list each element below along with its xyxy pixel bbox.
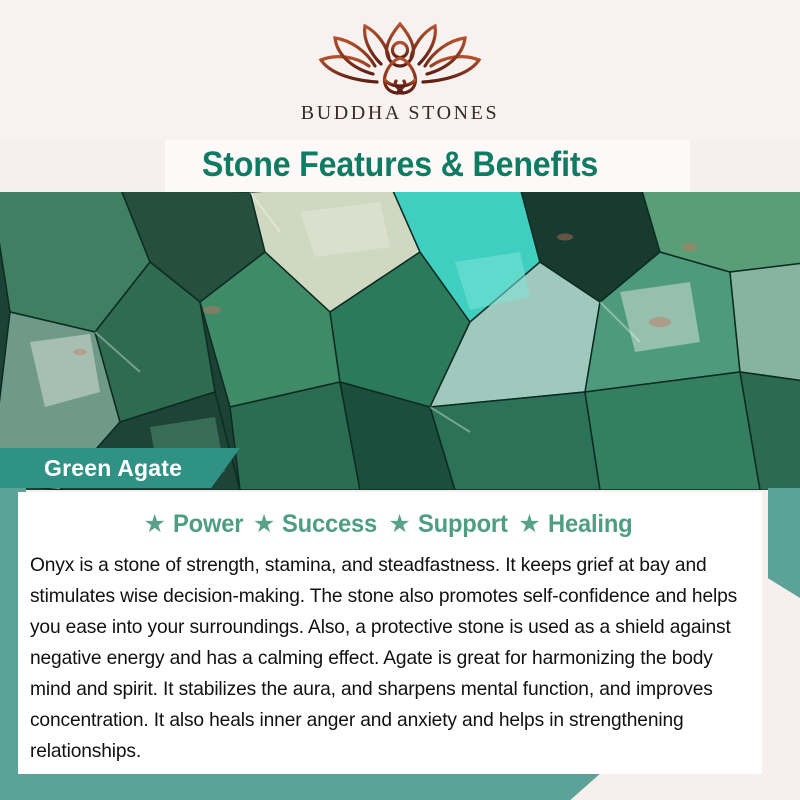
keyword-label: Power bbox=[173, 510, 243, 539]
brand-header: BUDDHA STONES bbox=[0, 0, 800, 140]
brand-name: BUDDHA STONES bbox=[301, 102, 499, 125]
title-band: Stone Features & Benefits bbox=[0, 140, 800, 196]
keyword-item-success: ★ Success bbox=[253, 510, 383, 539]
page-title: Stone Features & Benefits bbox=[32, 140, 768, 190]
keyword-item-support: ★ Support bbox=[388, 510, 512, 539]
stone-name-label: Green Agate bbox=[44, 455, 182, 482]
keyword-label: Success bbox=[282, 510, 377, 539]
keyword-label: Healing bbox=[548, 510, 632, 539]
poster-root: BUDDHA STONES Stone Features & Benefits bbox=[0, 0, 800, 800]
accent-band-right bbox=[768, 488, 800, 598]
stone-description: Onyx is a stone of strength, stamina, an… bbox=[28, 550, 741, 767]
stone-photo-graphic bbox=[0, 192, 800, 490]
star-icon: ★ bbox=[388, 512, 410, 537]
lotus-meditation-icon bbox=[315, 20, 485, 98]
keyword-item-power: ★ Power bbox=[143, 510, 246, 539]
stone-name-banner: Green Agate bbox=[0, 448, 240, 488]
star-icon: ★ bbox=[143, 512, 165, 537]
star-icon: ★ bbox=[518, 512, 540, 537]
content-card: ★ Power ★ Success ★ Support ★ Healing On… bbox=[18, 492, 762, 774]
stone-photo bbox=[0, 192, 800, 490]
keyword-label: Support bbox=[418, 510, 508, 539]
star-icon: ★ bbox=[253, 512, 275, 537]
keyword-list: ★ Power ★ Success ★ Support ★ Healing bbox=[28, 502, 752, 546]
keyword-item-healing: ★ Healing bbox=[518, 510, 636, 539]
